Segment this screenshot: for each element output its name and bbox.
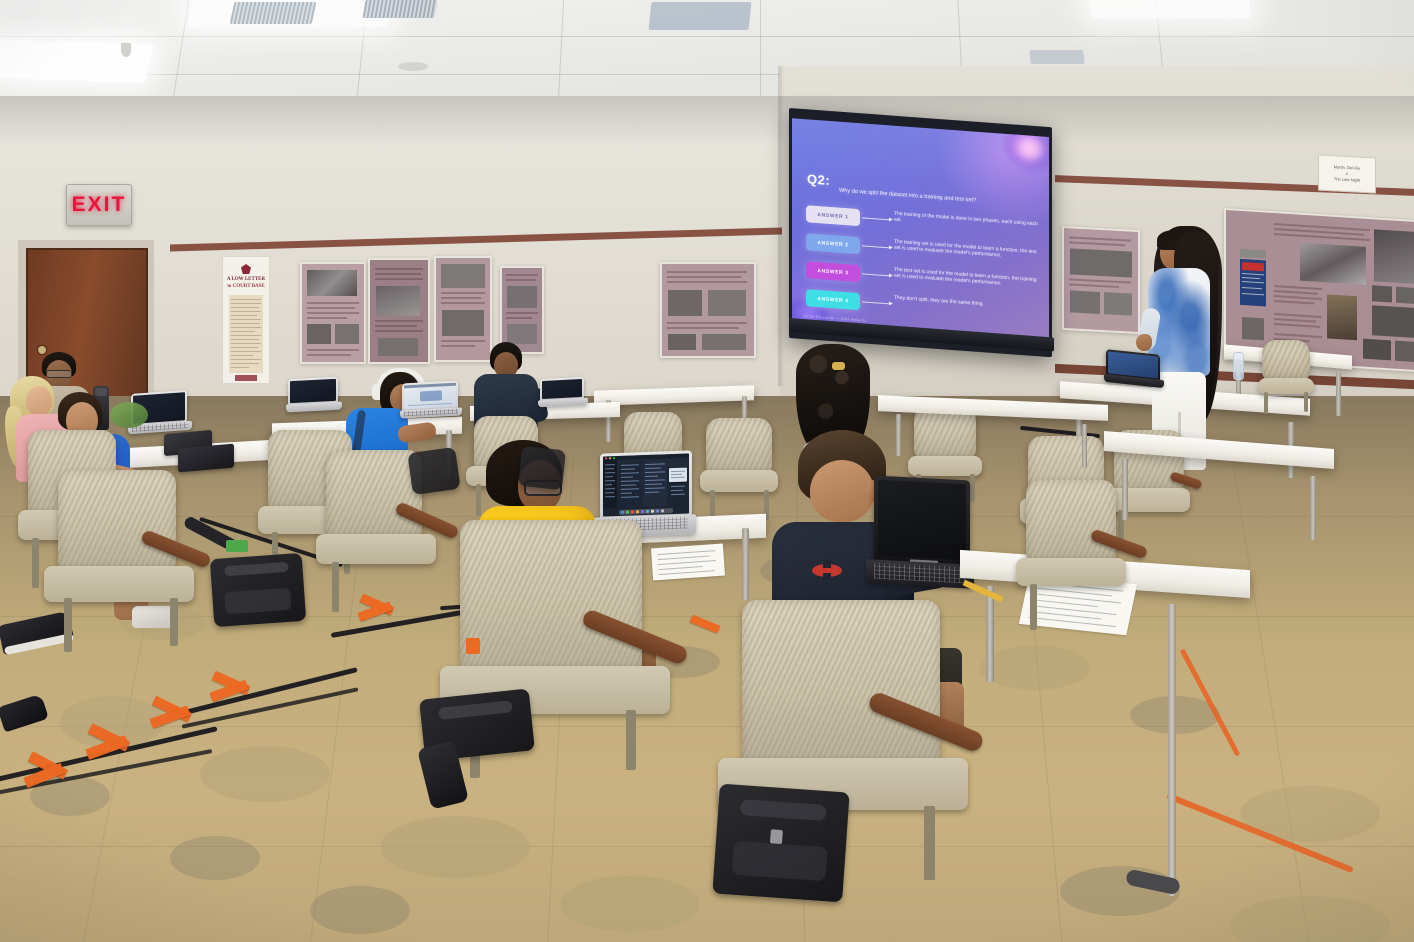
backpack [407,447,460,495]
answer-connector [862,273,890,276]
exit-sign-label: EXIT [72,193,127,217]
sprinkler-head [121,43,131,57]
ceiling-vent [362,0,437,18]
answer-connector [862,217,890,220]
wall-plaque-line-2: The Late Night [1334,176,1360,183]
bag-clip [770,829,783,844]
ceiling-speaker [398,62,428,71]
under-armour-logo [812,560,842,580]
answer-box-3[interactable]: ANSWER 3 [806,261,860,282]
ceiling-light-panel [1088,0,1251,18]
exhibit-panel [660,262,756,358]
instructor-hand [1136,334,1152,351]
exit-sign: EXIT [66,184,132,226]
laptop-msi [866,478,974,588]
exhibit-panel [500,266,544,354]
presentation-slide: Q2: Why do we split the dataset into a t… [792,118,1049,345]
backpack [210,553,307,627]
chair[interactable] [1258,340,1314,410]
chair[interactable] [700,418,778,520]
exhibit-banner: A LOW LETTER to COURT BASE [222,256,270,384]
laptop-blue-top-student [400,382,462,420]
water-bottle [1233,352,1244,380]
dialog-window [669,468,687,483]
wall-plaque: Martin, Del Rio & The Late Night [1318,154,1376,193]
answer-box-1[interactable]: ANSWER 1 [806,205,860,226]
student-head [810,460,874,522]
exhibit-panel [368,258,430,364]
ceiling-vent [1029,50,1084,64]
classroom-photo-scene: EXIT A LOW LETTER to COURT BASE [0,0,1414,942]
chair[interactable] [44,470,194,650]
laptop-instructor-table [1104,352,1166,388]
backpack [518,446,566,490]
exhibit-banner-title-1: A LOW LETTER [223,277,269,283]
answer-connector [862,301,890,304]
wall-corner [778,66,784,386]
slide-question-label: Q2: [807,171,830,188]
answer-box-2-label: ANSWER 2 [817,240,848,248]
laptop-mid-row [538,378,588,408]
chair[interactable] [1016,480,1126,630]
answer-box-4-label: ANSWER 4 [817,296,848,304]
answer-box-4[interactable]: ANSWER 4 [806,289,860,310]
msi-screen [878,480,966,561]
laptop-row2-left [286,378,342,414]
exhibit-banner-title-2: to COURT BASE [223,284,269,290]
ceiling-vent [230,2,317,24]
msi-lid [874,475,970,568]
answer-box-1-label: ANSWER 1 [817,212,848,220]
exhibit-panel [1062,226,1140,334]
answer-connector [862,245,890,248]
answer-box-2[interactable]: ANSWER 2 [806,233,860,254]
exhibit-panel [300,262,366,364]
ceiling-vent [649,2,752,30]
tape-marker [466,638,480,654]
answer-box-3-label: ANSWER 3 [817,268,848,276]
msi-keyboard[interactable] [866,559,974,589]
tape-marker [226,540,248,552]
hair-clip [832,362,845,370]
backpack [712,784,849,903]
